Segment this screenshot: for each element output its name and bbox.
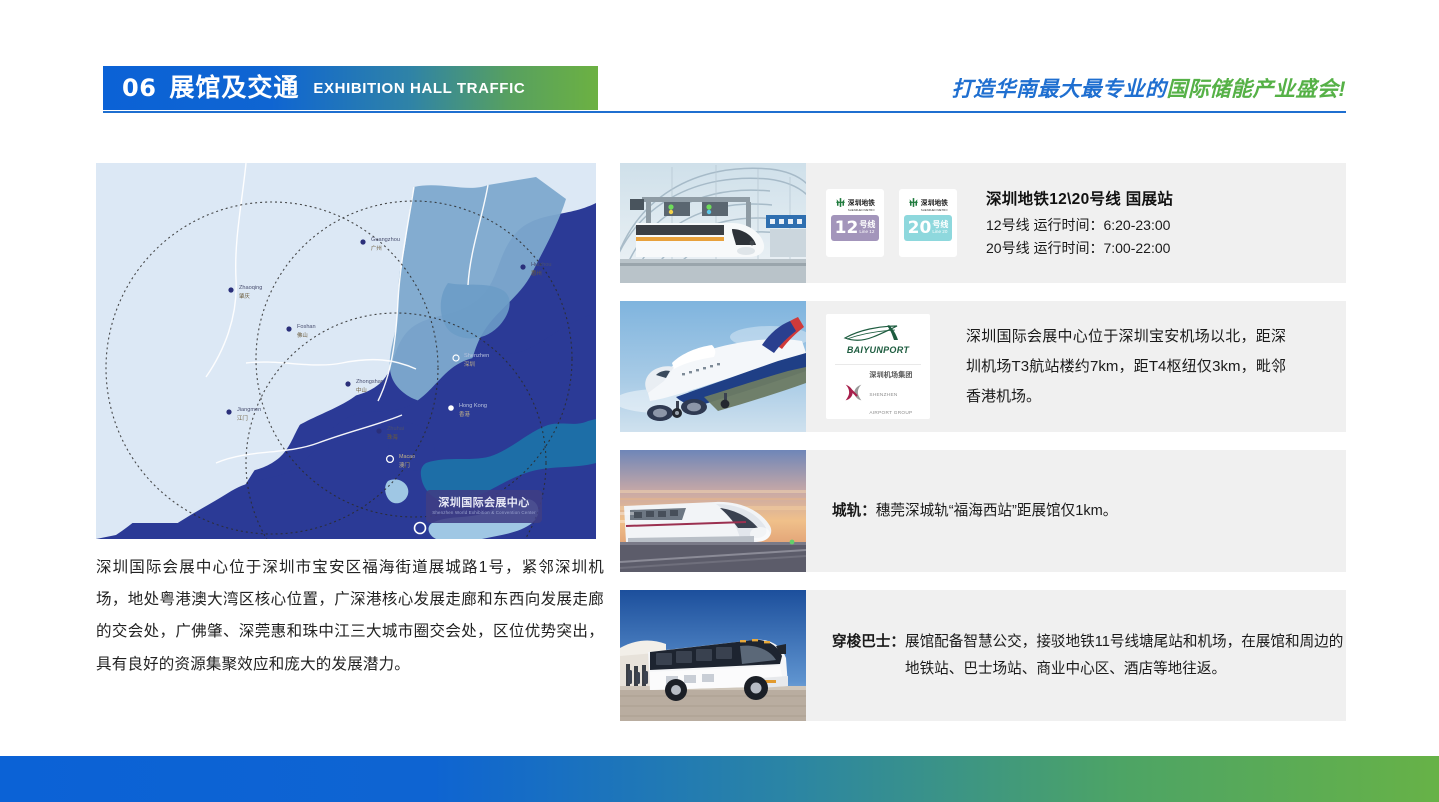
bullet-train-illustration — [620, 450, 806, 572]
airplane-illustration — [620, 301, 806, 432]
svg-text:Zhongshan: Zhongshan — [356, 379, 384, 385]
transport-card-intercity-rail: 城轨： 穗莞深城轨“福海西站”距展馆仅1km。 — [620, 450, 1346, 572]
shuttle-bus-card-body: 穿梭巴士： 展馆配备智慧公交，接驳地铁11号线塘尾站和机场，在展馆和周边的地铁站… — [806, 590, 1346, 721]
line-12-number: 12 — [835, 220, 859, 237]
slogan-part-green: 国际储能产业盛会! — [1167, 73, 1347, 103]
baiyunport-logo: BAIYUNPORT — [835, 314, 921, 365]
svg-text:佛山: 佛山 — [297, 331, 308, 339]
svg-text:Jiangmen: Jiangmen — [237, 407, 261, 413]
metro-mark-icon — [908, 197, 919, 208]
shenzhen-airport-group-logo: 深圳机场集团 SHENZHEN AIRPORT GROUP — [835, 365, 921, 419]
header-slogan: 打造华南最大最专业的 国际储能产业盛会! — [952, 70, 1347, 106]
pearl-river-delta-map: Zhaoqing 肇庆 Foshan 佛山 Guangzhou 广州 Huizh… — [96, 163, 596, 539]
baiyunport-wordmark: BAIYUNPORT — [847, 345, 909, 355]
metro-brand-cn: 深圳地铁 — [921, 200, 948, 207]
map-venue-callout: 深圳国际会展中心 Shenzhen World Exhibition & Con… — [426, 490, 542, 523]
svg-text:Shenzhen: Shenzhen — [464, 353, 489, 359]
svg-text:Guangzhou: Guangzhou — [371, 237, 400, 243]
line-12-plate: 12 号线 Line 12 — [831, 215, 879, 241]
metro-hours-line-20: 20号线 运行时间：7:00-22:00 — [986, 237, 1173, 260]
slogan-part-blue: 打造华南最大最专业的 — [952, 73, 1167, 103]
line-12-en: Line 12 — [859, 230, 874, 235]
svg-text:Zhaoqing: Zhaoqing — [239, 285, 262, 291]
metro-line-12-badge: 深圳地铁 SHENZHEN METRO 12 号线 Line 12 — [826, 189, 884, 257]
svg-text:香港: 香港 — [459, 410, 470, 418]
section-number: 06 — [122, 76, 156, 100]
svg-text:澳门: 澳门 — [399, 461, 410, 469]
callout-title-cn: 深圳国际会展中心 — [438, 497, 529, 509]
line-12-cn: 号线 — [859, 221, 875, 229]
shuttle-bus-text: 展馆配备智慧公交，接驳地铁11号线塘尾站和机场，在展馆和周边的地铁站、巴士场站、… — [905, 629, 1346, 683]
svg-text:Zhuhai: Zhuhai — [387, 426, 404, 432]
shuttle-bus-label: 穿梭巴士： — [832, 629, 905, 683]
train-station-illustration — [620, 163, 806, 283]
szairport-cn: 深圳机场集团 — [869, 372, 912, 379]
line-20-plate: 20 号线 Line 20 — [904, 215, 952, 241]
svg-text:珠海: 珠海 — [387, 433, 398, 441]
section-title-banner: 06 展馆及交通 EXHIBITION HALL TRAFFIC — [103, 66, 598, 110]
szairport-en-2: AIRPORT GROUP — [869, 410, 912, 415]
section-title-en: EXHIBITION HALL TRAFFIC — [313, 81, 525, 96]
intercity-rail-text: 穗莞深城轨“福海西站”距展馆仅1km。 — [876, 498, 1118, 525]
svg-text:Hong Kong: Hong Kong — [459, 403, 487, 409]
shenzhen-airport-mark-icon — [843, 382, 864, 403]
transport-card-airport: BAIYUNPORT 深圳机场集团 SHENZHEN AIRPORT GROUP — [620, 301, 1346, 432]
shuttle-bus-illustration — [620, 590, 806, 721]
svg-text:肇庆: 肇庆 — [239, 292, 250, 300]
metro-mark-icon — [835, 197, 846, 208]
line-20-en: Line 20 — [932, 230, 947, 235]
metro-hours-line-12: 12号线 运行时间：6:20-23:00 — [986, 214, 1173, 237]
shenzhen-metro-logo: 深圳地铁 SHENZHEN METRO — [835, 196, 875, 209]
svg-text:Huizhou: Huizhou — [531, 262, 552, 268]
map-graphic: Zhaoqing 肇庆 Foshan 佛山 Guangzhou 广州 Huizh… — [96, 163, 596, 539]
metro-line-20-badge: 深圳地铁 SHENZHEN METRO 20 号线 Line 20 — [899, 189, 957, 257]
svg-text:广州: 广州 — [371, 244, 382, 252]
bullet-train-photo — [620, 450, 806, 572]
line-20-number: 20 — [908, 220, 932, 237]
metro-card-body: 深圳地铁 SHENZHEN METRO 12 号线 Line 12 — [806, 163, 1346, 283]
airport-description: 深圳国际会展中心位于深圳宝安机场以北，距深圳机场T3航站楼约7km，距T4枢纽仅… — [966, 322, 1286, 412]
transport-card-shuttle-bus: 穿梭巴士： 展馆配备智慧公交，接驳地铁11号线塘尾站和机场，在展馆和周边的地铁站… — [620, 590, 1346, 721]
svg-text:惠州: 惠州 — [531, 269, 542, 277]
metro-brand-en: SHENZHEN METRO — [921, 210, 948, 213]
metro-station-photo — [620, 163, 806, 283]
airplane-photo — [620, 301, 806, 432]
callout-title-en: Shenzhen World Exhibition & Convention C… — [432, 511, 536, 516]
slide-header: 06 展馆及交通 EXHIBITION HALL TRAFFIC 打造华南最大最… — [0, 66, 1439, 112]
venue-description: 深圳国际会展中心位于深圳市宝安区福海街道展城路1号，紧邻深圳机场，地处粤港澳大湾… — [96, 552, 604, 681]
svg-text:Foshan: Foshan — [297, 324, 316, 330]
line-20-cn: 号线 — [932, 221, 948, 229]
transport-card-metro: 深圳地铁 SHENZHEN METRO 12 号线 Line 12 — [620, 163, 1346, 283]
header-divider — [103, 111, 1346, 113]
szairport-en-1: SHENZHEN — [869, 392, 897, 397]
airport-logo-stack: BAIYUNPORT 深圳机场集团 SHENZHEN AIRPORT GROUP — [826, 314, 930, 419]
metro-brand-cn: 深圳地铁 — [848, 200, 875, 207]
metro-station-title: 深圳地铁12\20号线 国展站 — [986, 187, 1173, 209]
intercity-rail-label: 城轨： — [832, 498, 876, 525]
baiyunport-swoosh-icon — [843, 324, 913, 344]
svg-text:江门: 江门 — [237, 414, 248, 422]
svg-text:中山: 中山 — [356, 386, 367, 394]
shuttle-bus-photo — [620, 590, 806, 721]
metro-brand-en: SHENZHEN METRO — [848, 210, 875, 213]
footer-gradient-bar — [0, 756, 1439, 802]
airport-card-body: BAIYUNPORT 深圳机场集团 SHENZHEN AIRPORT GROUP — [806, 301, 1346, 432]
svg-text:深圳: 深圳 — [464, 360, 475, 368]
section-title-cn: 展馆及交通 — [169, 76, 299, 101]
intercity-rail-card-body: 城轨： 穗莞深城轨“福海西站”距展馆仅1km。 — [806, 450, 1346, 572]
svg-text:Macao: Macao — [399, 454, 415, 460]
shenzhen-metro-logo: 深圳地铁 SHENZHEN METRO — [908, 196, 948, 209]
transport-card-list: 深圳地铁 SHENZHEN METRO 12 号线 Line 12 — [620, 163, 1346, 739]
